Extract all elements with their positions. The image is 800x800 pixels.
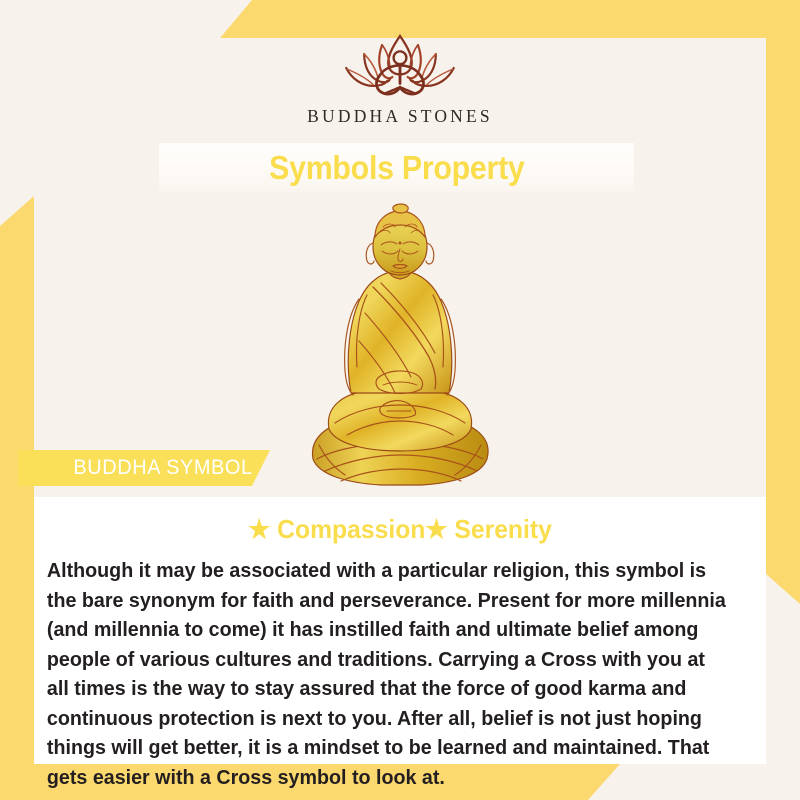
lotus-meditation-figure-icon — [336, 32, 464, 104]
frame-strip-left — [0, 196, 34, 800]
buddha-symbol-banner: BUDDHA SYMBOL — [18, 450, 270, 486]
description-panel: ★ Compassion★ Serenity Although it may b… — [34, 497, 766, 764]
brand-header: BUDDHA STONES — [34, 38, 766, 144]
title-band: Symbols Property — [159, 143, 634, 193]
frame-strip-top — [220, 0, 800, 38]
brand-name: BUDDHA STONES — [307, 106, 493, 127]
frame-strip-right — [766, 0, 800, 604]
buddha-statue-icon — [295, 201, 505, 491]
content-card: BUDDHA STONES Symbols Property — [34, 38, 766, 764]
virtues-heading: ★ Compassion★ Serenity — [62, 514, 738, 545]
description-paragraph: Although it may be associated with a par… — [44, 557, 735, 793]
poster-root: BUDDHA STONES Symbols Property — [0, 0, 800, 800]
page-title: Symbols Property — [269, 149, 524, 187]
buddha-symbol-banner-label: BUDDHA SYMBOL — [24, 456, 253, 480]
